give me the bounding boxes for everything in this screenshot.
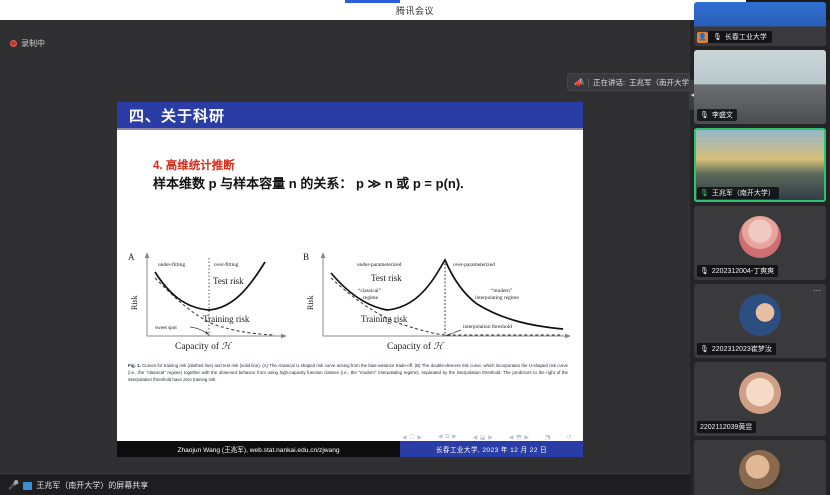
participant-tile[interactable]: ⋯ 🎙 2202312023崔梦汝	[694, 284, 826, 358]
panel-a-overfitting: over-fitting	[214, 261, 239, 268]
panel-b-ylabel: Risk	[306, 295, 315, 310]
participant-name: 🎙 李盛文	[697, 109, 737, 121]
nav-page-button[interactable]: ◀ ⬒ ▶	[509, 434, 530, 441]
speaking-name: 王兆军（南开大学）	[629, 77, 697, 88]
mic-muted-icon: 🎙	[713, 33, 722, 41]
participant-label: 2202312004-丁爽爽	[712, 266, 774, 276]
slide-body: 4. 高维统计推断 样本维数 p 与样本容量 n 的关系： p ≫ n 或 p …	[117, 130, 583, 457]
recording-label: 录制中	[21, 38, 45, 49]
mic-on-icon: 🎙	[700, 189, 709, 197]
slide-topic-line: 样本维数 p 与样本容量 n 的关系： p ≫ n 或 p = p(n).	[153, 173, 464, 192]
figure-caption: Fig. 1. Curves for training risk (dashed…	[128, 363, 568, 383]
panel-b-training-risk: Training risk	[361, 314, 408, 324]
panel-b-threshold: interpolation threshold	[463, 324, 512, 330]
active-speaker-banner: 📣 正在讲话: 王兆军（南开大学）	[567, 73, 704, 91]
screen-share-bar: 🎤 王兆军（南开大学）的屏幕共享	[0, 475, 690, 495]
panel-a-sweet-spot: sweet spot	[155, 325, 177, 331]
panel-b-xlabel: Capacity of ℋ	[387, 341, 444, 352]
participant-name: 🎙 2202312023崔梦汝	[697, 343, 776, 355]
divider	[588, 78, 589, 87]
participant-label: 长春工业大学	[725, 32, 767, 42]
share-bar-label: 王兆军（南开大学）的屏幕共享	[36, 480, 148, 491]
participant-tile[interactable]: 2202112039黄昱	[694, 362, 826, 436]
panel-a-training-risk: Training risk	[203, 314, 250, 324]
panel-a-underfitting: under-fitting	[158, 261, 185, 268]
record-dot-icon	[10, 40, 17, 47]
participant-name: 🎙 长春工业大学	[708, 31, 772, 43]
participant-label: 李盛文	[712, 110, 733, 120]
shared-screen-stage: 录制中 📣 正在讲话: 王兆军（南开大学） 四、关于科研 4. 高维统计推断 样…	[0, 20, 690, 475]
megaphone-icon: 📣	[574, 78, 584, 87]
panel-b-overparam: over-parameterized	[453, 262, 495, 268]
caption-text: Curves for training risk (dashed line) a…	[128, 363, 568, 382]
share-screen-icon	[23, 482, 32, 490]
avatar	[739, 294, 781, 336]
participant-label: 2202112039黄昱	[700, 422, 752, 432]
risk-curve-figure: A Risk	[125, 248, 575, 356]
nav-doc-button[interactable]: ⬔	[545, 434, 551, 441]
participant-label: 2202312023崔梦汝	[712, 344, 772, 354]
mic-muted-icon: 🎙	[700, 345, 709, 353]
participant-name: 🎙 2202312004-丁爽爽	[697, 265, 778, 277]
speaking-prefix: 正在讲话:	[593, 77, 625, 88]
panel-b-classical-1: “classical”	[358, 287, 382, 294]
nav-section-button[interactable]: ◀ ⬓ ▶	[473, 434, 494, 441]
panel-b-modern-1: “modern”	[491, 287, 513, 294]
nav-subsection-button[interactable]: ◀ ⧉ ▶	[438, 433, 457, 441]
panel-a-test-risk: Test risk	[213, 276, 244, 286]
meeting-app: 录制中 📣 正在讲话: 王兆军（南开大学） 四、关于科研 4. 高维统计推断 样…	[0, 20, 830, 495]
participant-label: 王兆军（南开大学）	[712, 188, 775, 198]
nav-frame-button[interactable]: ◀ ☐ ▶	[402, 434, 422, 441]
avatar	[739, 450, 781, 492]
slide-section-title: 四、关于科研	[129, 105, 225, 126]
panel-b-classical-2: regime	[363, 295, 379, 301]
participant-tile[interactable]: 🎙 李盛文	[694, 50, 826, 124]
nav-back-button[interactable]: ↺	[566, 434, 572, 441]
participant-tile[interactable]: 🎙 2202212004崔馨月	[694, 440, 826, 495]
more-options-icon[interactable]: ⋯	[813, 287, 822, 295]
panel-a-xlabel: Capacity of ℋ	[175, 341, 232, 352]
recording-indicator: 录制中	[10, 38, 45, 49]
presentation-slide[interactable]: 四、关于科研 4. 高维统计推断 样本维数 p 与样本容量 n 的关系： p ≫…	[117, 102, 583, 457]
avatar	[739, 372, 781, 414]
panel-b-underparam: under-parameterized	[357, 262, 402, 268]
slide-header: 四、关于科研	[117, 102, 583, 130]
participant-tile-active-speaker[interactable]: 🎙 王兆军（南开大学）	[694, 128, 826, 202]
participant-tile[interactable]: 🎙 2202312004-丁爽爽	[694, 206, 826, 280]
panel-b-label: B	[303, 252, 309, 262]
participant-name: 2202112039黄昱	[697, 421, 756, 433]
host-icon: 👤	[697, 32, 708, 43]
mic-on-icon: 🎤	[8, 480, 19, 491]
slide-footer: Zhaojun Wang (王兆军), web.stat.nankai.edu.…	[117, 441, 583, 457]
panel-b-modern-2: interpolating regime	[475, 295, 519, 301]
mic-muted-icon: 🎙	[700, 267, 709, 275]
window-title: 腾讯会议	[396, 4, 434, 17]
avatar	[739, 216, 781, 258]
slide-footer-venue: 长春工业大学, 2023 年 12 月 22 日	[400, 441, 583, 457]
slide-footer-author: Zhaojun Wang (王兆军), web.stat.nankai.edu.…	[117, 441, 400, 457]
mic-muted-icon: 🎙	[700, 111, 709, 119]
risk-curve-svg: A Risk	[125, 248, 575, 356]
participant-filmstrip[interactable]: ◀ 👤 🎙 长春工业大学 🎙 李盛文 🎙 王兆军（南开大学）	[690, 20, 830, 495]
slide-topic-number: 4. 高维统计推断	[153, 157, 235, 173]
panel-b-test-risk: Test risk	[371, 273, 402, 283]
host-badge: 👤 🎙 长春工业大学	[697, 31, 772, 43]
panel-a-ylabel: Risk	[130, 295, 139, 310]
caption-label: Fig. 1.	[128, 363, 141, 368]
participant-name: 🎙 王兆军（南开大学）	[697, 187, 779, 199]
panel-a-label: A	[128, 252, 135, 262]
participant-tile[interactable]: 👤 🎙 长春工业大学	[694, 2, 826, 46]
title-accent-bar	[345, 0, 400, 3]
